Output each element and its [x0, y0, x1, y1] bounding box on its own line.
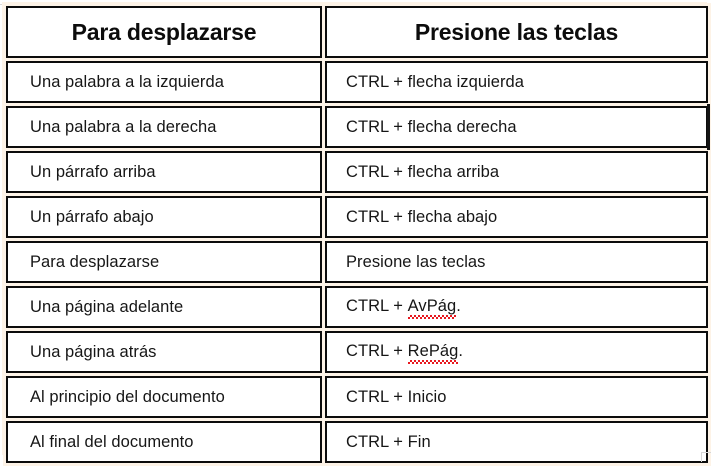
action-text: Una página atrás	[30, 343, 156, 361]
table-row: Una palabra a la izquierdaCTRL + flecha …	[6, 61, 708, 103]
table-cell-action: Un párrafo abajo	[6, 196, 322, 238]
table-cell-keys: CTRL + RePág.	[325, 331, 708, 373]
keys-text: CTRL + Inicio	[346, 388, 446, 406]
column-header-action: Para desplazarse	[6, 6, 322, 58]
column-header-keys-label: Presione las teclas	[415, 19, 618, 45]
table-cell-action: Al principio del documento	[6, 376, 322, 418]
table-row: Para desplazarsePresione las teclas	[6, 241, 708, 283]
keys-suffix-text: .	[458, 342, 463, 360]
table-cell-keys: CTRL + AvPág.	[325, 286, 708, 328]
action-text: Una página adelante	[30, 298, 183, 316]
keys-text: Presione las teclas	[346, 253, 485, 271]
column-header-action-label: Para desplazarse	[72, 19, 257, 45]
table-row: Una página adelanteCTRL + AvPág.	[6, 286, 708, 328]
table-cell-keys: CTRL + flecha derecha	[325, 106, 708, 148]
table-cell-action: Al final del documento	[6, 421, 322, 463]
page-root: Para desplazarse Presione las teclas Una…	[0, 0, 711, 462]
column-header-keys: Presione las teclas	[325, 6, 708, 58]
table-cell-keys: CTRL + flecha abajo	[325, 196, 708, 238]
shortcut-table: Para desplazarse Presione las teclas Una…	[3, 3, 711, 466]
table-cell-action: Para desplazarse	[6, 241, 322, 283]
table-cell-keys: CTRL + Inicio	[325, 376, 708, 418]
action-text: Una palabra a la derecha	[30, 118, 217, 136]
action-text: Un párrafo arriba	[30, 163, 156, 181]
table-header: Para desplazarse Presione las teclas	[6, 6, 708, 58]
table-cell-action: Una página atrás	[6, 331, 322, 373]
keys-text: CTRL +	[346, 342, 408, 360]
action-text: Para desplazarse	[30, 253, 159, 271]
table-row: Un párrafo abajoCTRL + flecha abajo	[6, 196, 708, 238]
action-text: Una palabra a la izquierda	[30, 73, 224, 91]
keys-text: CTRL + flecha arriba	[346, 163, 499, 181]
keys-misspelled-text: RePág	[408, 342, 459, 362]
capture-corner-artifact-bottom-right	[701, 452, 711, 462]
table-cell-keys: Presione las teclas	[325, 241, 708, 283]
keys-text: CTRL + flecha abajo	[346, 208, 497, 226]
table-row: Un párrafo arribaCTRL + flecha arriba	[6, 151, 708, 193]
action-text: Un párrafo abajo	[30, 208, 154, 226]
keys-text: CTRL +	[346, 297, 408, 315]
table-cell-action: Un párrafo arriba	[6, 151, 322, 193]
capture-edge-artifact-right	[707, 104, 710, 150]
keys-suffix-text: .	[456, 297, 461, 315]
action-text: Al principio del documento	[30, 388, 225, 406]
keys-misspelled-text: AvPág	[408, 297, 457, 317]
table-row: Una página atrásCTRL + RePág.	[6, 331, 708, 373]
table-row: Al principio del documentoCTRL + Inicio	[6, 376, 708, 418]
keys-text: CTRL + Fin	[346, 433, 431, 451]
keys-text: CTRL + flecha izquierda	[346, 73, 524, 91]
table-cell-action: Una página adelante	[6, 286, 322, 328]
shortcut-table-frame: Para desplazarse Presione las teclas Una…	[2, 2, 707, 455]
table-cell-keys: CTRL + flecha izquierda	[325, 61, 708, 103]
table-cell-action: Una palabra a la izquierda	[6, 61, 322, 103]
table-row: Al final del documentoCTRL + Fin	[6, 421, 708, 463]
keys-text: CTRL + flecha derecha	[346, 118, 517, 136]
table-cell-action: Una palabra a la derecha	[6, 106, 322, 148]
table-row: Una palabra a la derechaCTRL + flecha de…	[6, 106, 708, 148]
table-body: Una palabra a la izquierdaCTRL + flecha …	[6, 61, 708, 463]
table-cell-keys: CTRL + flecha arriba	[325, 151, 708, 193]
table-header-row: Para desplazarse Presione las teclas	[6, 6, 708, 58]
action-text: Al final del documento	[30, 433, 193, 451]
table-cell-keys: CTRL + Fin	[325, 421, 708, 463]
